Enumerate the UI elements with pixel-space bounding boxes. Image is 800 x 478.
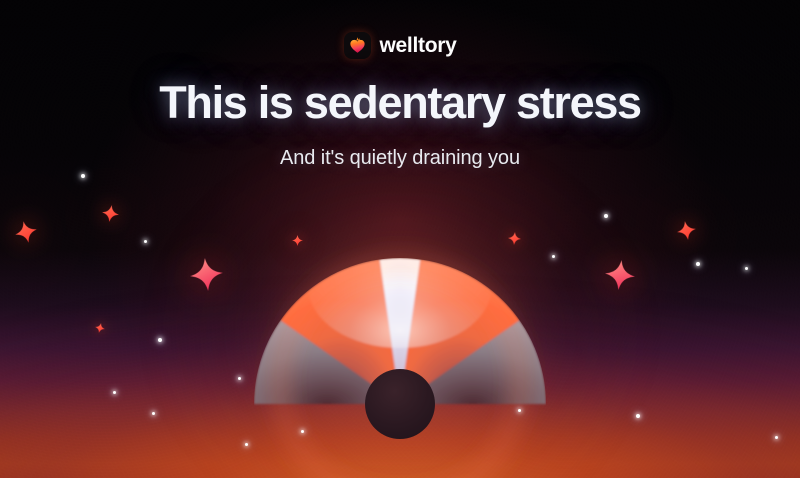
sparkle-right-upper	[675, 219, 697, 241]
gauge-graphic	[250, 224, 550, 424]
star-12	[636, 414, 640, 418]
star-03	[158, 338, 162, 342]
sparkle-left-small	[94, 322, 106, 334]
star-02	[144, 240, 147, 243]
star-09	[604, 214, 608, 218]
brand-wordmark: welltory	[380, 35, 457, 56]
heart-icon	[348, 36, 367, 55]
welltory-logo-mark	[344, 32, 371, 59]
star-11	[745, 267, 748, 270]
sparkle-center-right	[507, 231, 521, 245]
star-14	[113, 391, 116, 394]
sparkle-left-upper	[100, 203, 119, 222]
page-title: This is sedentary stress	[0, 79, 800, 126]
star-08	[552, 255, 555, 258]
star-07	[301, 430, 304, 433]
star-10	[696, 262, 700, 266]
star-15	[518, 409, 521, 412]
star-05	[238, 377, 241, 380]
gauge-hub	[365, 369, 435, 439]
promo-banner: welltory This is sedentary stress And it…	[0, 0, 800, 478]
star-01	[81, 174, 85, 178]
sparkle-center-left	[292, 235, 303, 246]
sparkle-left-mid	[188, 256, 224, 292]
brand-lockup: welltory	[0, 32, 800, 59]
page-subtitle: And it's quietly draining you	[0, 147, 800, 170]
star-13	[775, 436, 778, 439]
star-04	[152, 412, 155, 415]
star-06	[245, 443, 248, 446]
sparkle-right-mid	[604, 259, 637, 292]
